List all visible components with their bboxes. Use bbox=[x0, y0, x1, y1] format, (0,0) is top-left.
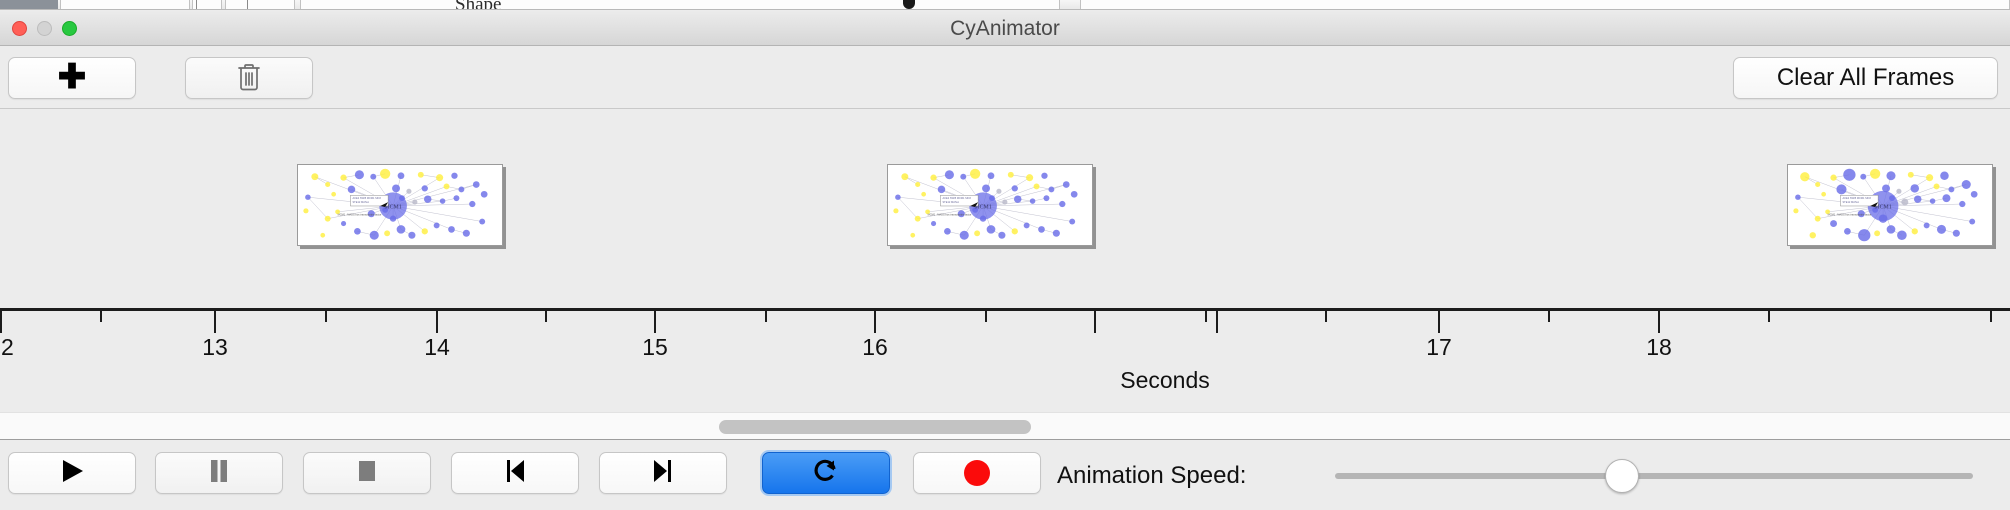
background-window-segment bbox=[1080, 0, 2010, 9]
axis-tick-label: 13 bbox=[202, 334, 228, 361]
axis-tick-label: 18 bbox=[1646, 334, 1672, 361]
timeline-axis-line bbox=[0, 308, 2010, 311]
axis-tick-major bbox=[654, 311, 656, 333]
axis-tick-minor bbox=[325, 311, 327, 322]
background-window-strip: Shape bbox=[0, 0, 2010, 10]
frames-track[interactable]: MCM1ACE2 SWI5 MCM1 SIN3STE12 MATa1MCM1 :… bbox=[0, 109, 2010, 309]
loop-icon bbox=[811, 456, 841, 491]
skip-to-end-button[interactable] bbox=[599, 452, 727, 494]
axis-tick-minor bbox=[100, 311, 102, 322]
axis-tick-minor bbox=[545, 311, 547, 322]
axis-tick-minor bbox=[1990, 311, 1992, 322]
background-window-tick bbox=[247, 0, 248, 9]
axis-tick-label: 15 bbox=[642, 334, 668, 361]
play-icon bbox=[59, 457, 85, 490]
add-frame-button[interactable]: ✚ bbox=[8, 57, 136, 99]
timeline-frame-thumbnail[interactable]: MCM1ACE2 SWI5 MCM1 SIN3STE12 MATa1MCM1 :… bbox=[887, 164, 1093, 246]
record-icon bbox=[964, 460, 990, 486]
axis-tick-minor bbox=[1768, 311, 1770, 322]
trash-icon bbox=[236, 61, 262, 96]
stop-icon bbox=[354, 457, 380, 490]
axis-tick-label: 16 bbox=[862, 334, 888, 361]
svg-text:STE12 MATa1: STE12 MATa1 bbox=[352, 200, 369, 204]
axis-tick-major bbox=[0, 311, 2, 333]
loop-button[interactable] bbox=[762, 452, 890, 494]
play-button[interactable] bbox=[8, 452, 136, 494]
toolbar: ✚ Clear All Frames bbox=[0, 47, 2010, 109]
background-window-segment bbox=[300, 0, 1060, 9]
scrollbar-thumb[interactable] bbox=[719, 420, 1031, 434]
svg-text:MCM1 : MADS box transcription: MCM1 : MADS box transcription factor bbox=[1828, 213, 1872, 217]
clear-all-frames-button[interactable]: Clear All Frames bbox=[1733, 57, 1998, 99]
axis-tick-major bbox=[1658, 311, 1660, 333]
svg-text:ACE2 SWI5 MCM1 SIN3: ACE2 SWI5 MCM1 SIN3 bbox=[1842, 196, 1871, 200]
background-window-titlebar-fragment bbox=[0, 0, 58, 9]
stop-button[interactable] bbox=[303, 452, 431, 494]
pause-button[interactable] bbox=[155, 452, 283, 494]
skip-start-icon bbox=[502, 457, 528, 490]
svg-text:STE12 MATa1: STE12 MATa1 bbox=[942, 200, 959, 204]
skip-to-start-button[interactable] bbox=[451, 452, 579, 494]
timeline-axis-title-label: Seconds bbox=[1120, 367, 1210, 394]
axis-tick-major bbox=[436, 311, 438, 333]
axis-tick-minor bbox=[1325, 311, 1327, 322]
axis-tick-minor bbox=[1205, 311, 1207, 322]
background-window-segment bbox=[225, 0, 295, 9]
delete-frame-button[interactable] bbox=[185, 57, 313, 99]
svg-text:STE12 MATa1: STE12 MATa1 bbox=[1842, 200, 1859, 204]
animation-speed-slider[interactable] bbox=[1335, 473, 1973, 479]
axis-tick-major bbox=[1438, 311, 1440, 333]
svg-text:MCM1 : MADS box transcription: MCM1 : MADS box transcription factor bbox=[928, 213, 972, 217]
window-title: CyAnimator bbox=[0, 17, 2010, 41]
skip-end-icon bbox=[650, 457, 676, 490]
title-bar: CyAnimator bbox=[0, 10, 2010, 46]
slider-track bbox=[1335, 473, 1973, 479]
timeline-horizontal-scrollbar[interactable] bbox=[0, 412, 2010, 440]
clear-all-frames-label: Clear All Frames bbox=[1777, 64, 1954, 92]
svg-text:ACE2 SWI5 MCM1 SIN3: ACE2 SWI5 MCM1 SIN3 bbox=[942, 196, 971, 200]
axis-tick-minor bbox=[765, 311, 767, 322]
axis-tick-label: 17 bbox=[1426, 334, 1452, 361]
timeline-frame-thumbnail[interactable]: MCM1ACE2 SWI5 MCM1 SIN3STE12 MATa1MCM1 :… bbox=[297, 164, 503, 246]
timeline-panel[interactable]: MCM1ACE2 SWI5 MCM1 SIN3STE12 MATa1MCM1 :… bbox=[0, 109, 2010, 409]
background-window-label: Shape bbox=[455, 0, 501, 10]
background-window-tick bbox=[196, 0, 197, 9]
axis-tick-major bbox=[874, 311, 876, 333]
svg-text:MCM1 : MADS box transcription: MCM1 : MADS box transcription factor bbox=[338, 213, 382, 217]
axis-tick-minor bbox=[1548, 311, 1550, 322]
plus-icon: ✚ bbox=[58, 60, 87, 94]
svg-text:ACE2 SWI5 MCM1 SIN3: ACE2 SWI5 MCM1 SIN3 bbox=[352, 196, 381, 200]
timeline-frame-thumbnail[interactable]: MCM1ACE2 SWI5 MCM1 SIN3STE12 MATa1MCM1 :… bbox=[1787, 164, 1993, 246]
pause-icon bbox=[206, 457, 232, 490]
slider-knob[interactable] bbox=[1605, 459, 1639, 493]
cyanimator-window: Shape CyAnimator ✚ Clear All Frames MCM1… bbox=[0, 0, 2010, 510]
record-button[interactable] bbox=[913, 452, 1041, 494]
axis-tick-label: 12 bbox=[0, 334, 14, 361]
animation-speed-label: Animation Speed: bbox=[1057, 462, 1246, 490]
axis-tick-major bbox=[214, 311, 216, 333]
background-window-segment bbox=[60, 0, 190, 9]
playback-bar: Animation Speed: bbox=[0, 441, 2010, 510]
axis-tick-minor bbox=[985, 311, 987, 322]
axis-tick-major bbox=[1216, 311, 1218, 333]
axis-tick-major bbox=[1094, 311, 1096, 333]
axis-tick-label: 14 bbox=[424, 334, 450, 361]
